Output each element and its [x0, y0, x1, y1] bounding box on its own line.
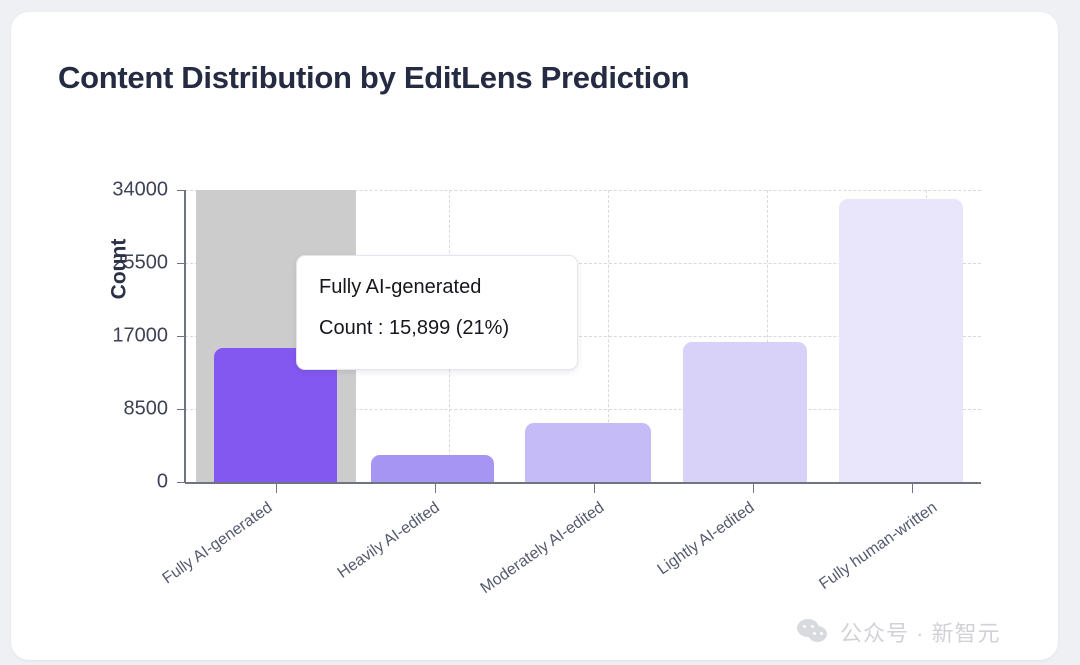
- bar-lightly-ai-edited[interactable]: [683, 342, 807, 482]
- y-tick-label-0: 0: [157, 471, 168, 494]
- watermark-text: 公众号 · 新智元: [840, 616, 1001, 648]
- bar-moderately-ai-edited[interactable]: [525, 423, 651, 482]
- bar-heavily-ai-edited[interactable]: [371, 455, 494, 482]
- y-tick-label-8500: 8500: [124, 398, 169, 421]
- x-tick-label-moderately-ai-edited: Moderately AI-edited: [478, 499, 609, 598]
- chart-card: Content Distribution by EditLens Predict…: [11, 12, 1058, 660]
- watermark: 公众号 · 新智元: [797, 616, 1001, 648]
- x-tick-mark: [594, 483, 595, 493]
- x-tick-label-fully-ai-generated: Fully AI-generated: [159, 499, 276, 588]
- y-axis-title: Count: [107, 239, 131, 300]
- x-tick-mark: [912, 483, 913, 493]
- y-axis-line: [184, 190, 186, 483]
- x-tick-mark: [276, 483, 277, 493]
- chart-tooltip: Fully AI-generated Count : 15,899 (21%): [296, 255, 578, 370]
- x-tick-label-fully-human-written: Fully human-written: [816, 499, 941, 594]
- x-tick-mark: [435, 483, 436, 493]
- y-axis-labels: 34000 25500 17000 8500 0: [11, 12, 175, 660]
- tooltip-value: Count : 15,899 (21%): [319, 317, 555, 340]
- y-tick-label-34000: 34000: [112, 179, 168, 202]
- y-tick-label-17000: 17000: [112, 325, 168, 348]
- tooltip-category: Fully AI-generated: [319, 276, 555, 299]
- x-tick-mark: [753, 483, 754, 493]
- wechat-icon: [797, 619, 831, 645]
- x-tick-label-lightly-ai-edited: Lightly AI-edited: [655, 499, 759, 579]
- bar-fully-human-written[interactable]: [839, 199, 963, 482]
- x-tick-label-heavily-ai-edited: Heavily AI-edited: [335, 499, 444, 583]
- x-axis-line: [185, 482, 981, 484]
